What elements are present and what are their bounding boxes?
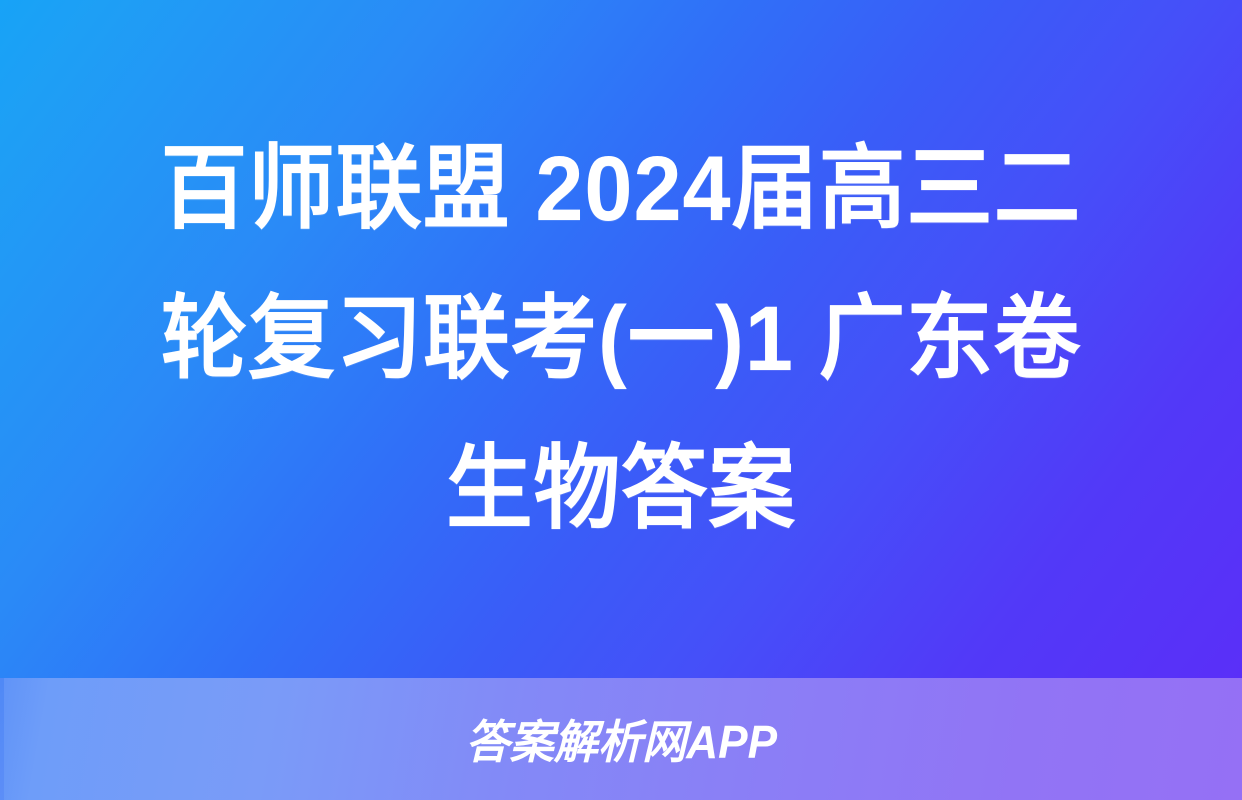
watermark-brand-label: 答案解析网APP bbox=[465, 706, 777, 772]
title-line-3: 生物答案 bbox=[104, 414, 1138, 564]
hero-gradient-panel: 百师联盟 2024届高三二 轮复习联考(一)1 广东卷 生物答案 bbox=[0, 0, 1242, 678]
title-line-2: 轮复习联考(一)1 广东卷 bbox=[104, 264, 1138, 414]
footer-band: 答案解析网APP bbox=[0, 678, 1242, 800]
title-line-1: 百师联盟 2024届高三二 bbox=[104, 114, 1138, 264]
page-title: 百师联盟 2024届高三二 轮复习联考(一)1 广东卷 生物答案 bbox=[71, 114, 1171, 564]
answer-cover-screen: 百师联盟 2024届高三二 轮复习联考(一)1 广东卷 生物答案 答案解析网AP… bbox=[0, 0, 1242, 800]
